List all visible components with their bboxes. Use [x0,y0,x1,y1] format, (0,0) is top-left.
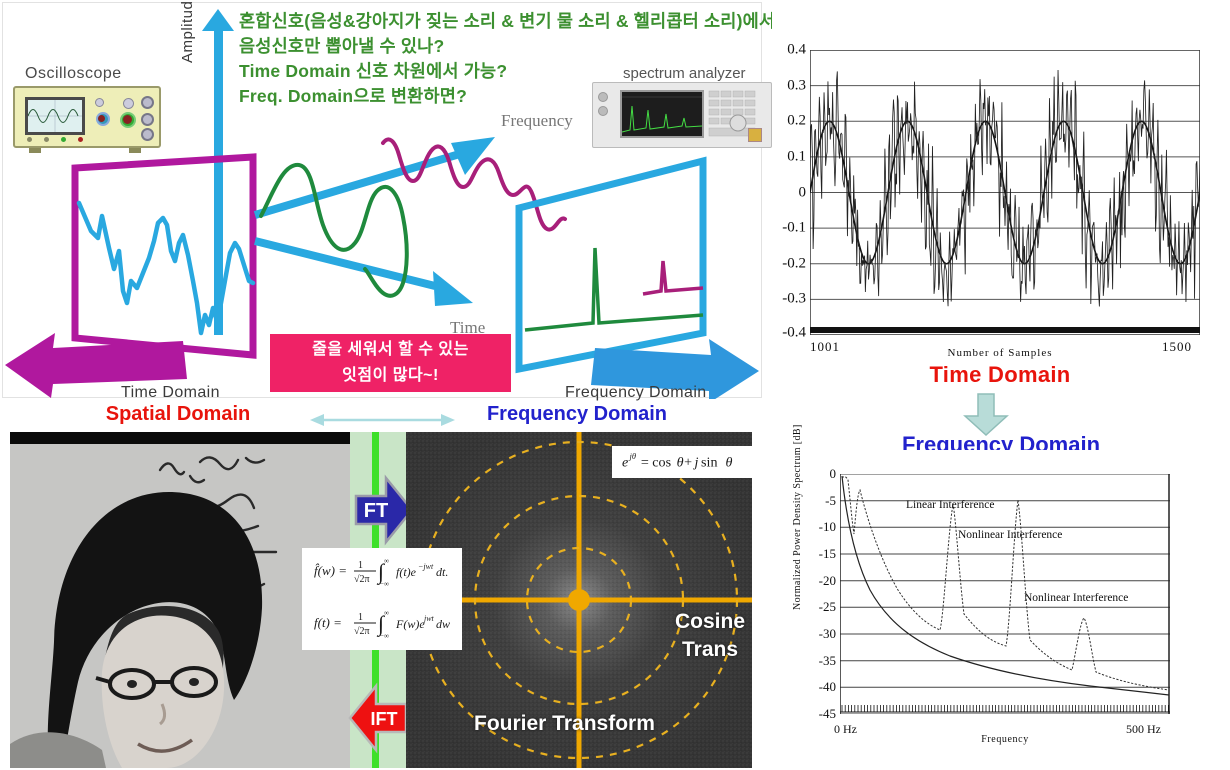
td-xaxis-title: Number of Samples [772,347,1228,359]
svg-text:1: 1 [358,612,363,623]
spectrum-peaks-curve [842,477,1169,690]
td-ytick-5: -0.1 [782,220,806,237]
forward-transform-formula: f̂(w) = 1 √2π ∫ −∞ ∞ f(t)e −jwt dt. [312,555,452,591]
svg-text:dt.: dt. [436,565,448,579]
spatial-domain-title: Spatial Domain [2,403,354,426]
cosine-label-line-2: Trans [682,638,738,661]
fourier-concept-diagram: 혼합신호(음성&강아지가 짖는 소리 & 변기 물 소리 & 헬리콥터 소리)에… [2,2,762,398]
fd-ytick-1: -5 [825,493,836,509]
fd-ytick-9: -45 [819,706,836,722]
pink-callout-line-2: 잇점이 많다~! [342,363,439,389]
td-ytick-4: 0 [799,184,807,201]
svg-text:f(t) =: f(t) = [314,615,342,630]
svg-text:jθ: jθ [629,451,637,461]
fourier-transform-label: Fourier Transform [474,712,655,736]
time-domain-chart-panel: 0.4 0.3 0.2 0.1 0 -0.1 -0.2 -0.3 -0.4 10… [772,2,1228,398]
time-domain-plot-svg [810,50,1200,335]
svg-text:√2π: √2π [354,574,370,585]
svg-text:+: + [684,455,692,471]
spatial-domain-photo [10,432,350,768]
svg-text:f(t)e: f(t)e [396,565,417,579]
spectrum-analyzer-label: spectrum analyzer [623,65,746,82]
frequency-axis-text: Frequency [501,111,573,131]
power-spectrum-chart: 0 -5 -10 -15 -20 -25 -30 -35 -40 -45 Lin… [840,474,1170,714]
td-ytick-0: 0.4 [787,42,806,59]
time-domain-caption: Time Domain [121,384,220,402]
svg-text:dw: dw [436,617,450,631]
ift-arrow-icon[interactable]: IFT [348,682,410,754]
td-ytick-7: -0.3 [782,291,806,308]
td-ytick-8: -0.4 [782,325,806,342]
pink-callout-line-1: 줄을 세워서 할 수 있는 [312,337,469,363]
inverse-transform-icon: f(t) = 1 √2π ∫ −∞ ∞ F(w)e jwt dw [312,607,452,639]
svg-text:√2π: √2π [354,626,370,637]
time-domain-title-red: Time Domain [772,362,1228,388]
fd-ytick-7: -35 [819,653,836,669]
annotation-linear-interference: Linear Interference [906,499,994,511]
euler-formula-icon: e jθ = cos θ + j sin θ [622,451,750,473]
baseline-decay-curve [842,476,1169,695]
frequency-axis-arrow-icon [451,137,495,175]
fd-ytick-3: -15 [819,546,836,562]
svg-text:sin: sin [701,455,717,471]
svg-text:θ: θ [726,455,733,471]
svg-text:−∞: −∞ [380,632,389,639]
svg-text:j: j [692,455,698,471]
td-ytick-6: -0.2 [782,255,806,272]
annotation-nonlinear-interference-1: Nonlinear Interference [958,529,1062,541]
frequency-domain-caption: Frequency Domain [565,384,707,402]
svg-text:= cos: = cos [641,455,671,471]
svg-text:−jwt: −jwt [418,562,434,571]
fd-ytick-6: -30 [819,626,836,642]
svg-text:∞: ∞ [384,557,389,565]
fd-ytick-4: -20 [819,573,836,589]
power-spectrum-chart-panel: Normalized Power Density Spectrum [dB] [782,450,1228,768]
fd-ytick-5: -25 [819,599,836,615]
frequency-domain-plane [519,161,703,369]
arrow-down-icon [963,392,1009,436]
magenta-spectrum-peak [643,261,703,294]
slide-root: 혼합신호(음성&강아지가 짖는 소리 & 변기 물 소리 & 헬리콥터 소리)에… [0,0,1230,770]
td-ytick-2: 0.2 [787,113,806,130]
time-domain-chart: 0.4 0.3 0.2 0.1 0 -0.1 -0.2 -0.3 -0.4 [810,50,1200,335]
fourier-formula-box: f̂(w) = 1 √2π ∫ −∞ ∞ f(t)e −jwt dt. f(t)… [302,548,462,650]
time-axis-arrow-icon [433,271,473,306]
fd-yaxis-title: Normalized Power Density Spectrum [dB] [792,424,803,610]
annotation-nonlinear-interference-2: Nonlinear Interference [1024,592,1128,604]
svg-text:f̂(w) =: f̂(w) = [314,563,347,578]
svg-text:e: e [622,455,628,471]
cosine-label-line-1: Cosine [675,610,745,633]
double-arrow-icon [310,412,455,428]
td-ytick-1: 0.3 [787,77,806,94]
spectrum-analyzer-trace-icon [622,92,702,136]
ft-arrow-label: FT [364,500,388,522]
inverse-transform-formula: f(t) = 1 √2π ∫ −∞ ∞ F(w)e jwt dw [312,607,452,643]
forward-transform-icon: f̂(w) = 1 √2π ∫ −∞ ∞ f(t)e −jwt dt. [312,555,452,587]
pink-callout-top: 줄을 세워서 할 수 있는 잇점이 많다~! [270,334,511,392]
svg-text:θ: θ [677,455,684,471]
svg-text:jwt: jwt [423,614,435,623]
portrait-photo-illustration [10,432,350,768]
td-ytick-3: 0.1 [787,148,806,165]
svg-text:∞: ∞ [384,609,389,617]
fd-xaxis-title: Frequency [840,734,1170,745]
cosine-trans-label: Cosine Trans [665,608,755,664]
svg-text:F(w)e: F(w)e [395,617,425,631]
fd-ytick-8: -40 [819,679,836,695]
time-domain-waveform [79,203,253,333]
fd-ytick-2: -10 [819,519,836,535]
ift-arrow-label: IFT [371,709,398,729]
frequency-axis-line [255,153,463,215]
euler-formula-box: e jθ = cos θ + j sin θ [612,446,760,478]
svg-text:1: 1 [358,560,363,571]
ft-arrow-icon[interactable]: FT [352,474,414,546]
svg-text:−∞: −∞ [380,580,389,587]
fd-ytick-0: 0 [830,466,837,482]
spectrum-analyzer-image [592,82,772,148]
time-domain-plane [75,157,253,355]
